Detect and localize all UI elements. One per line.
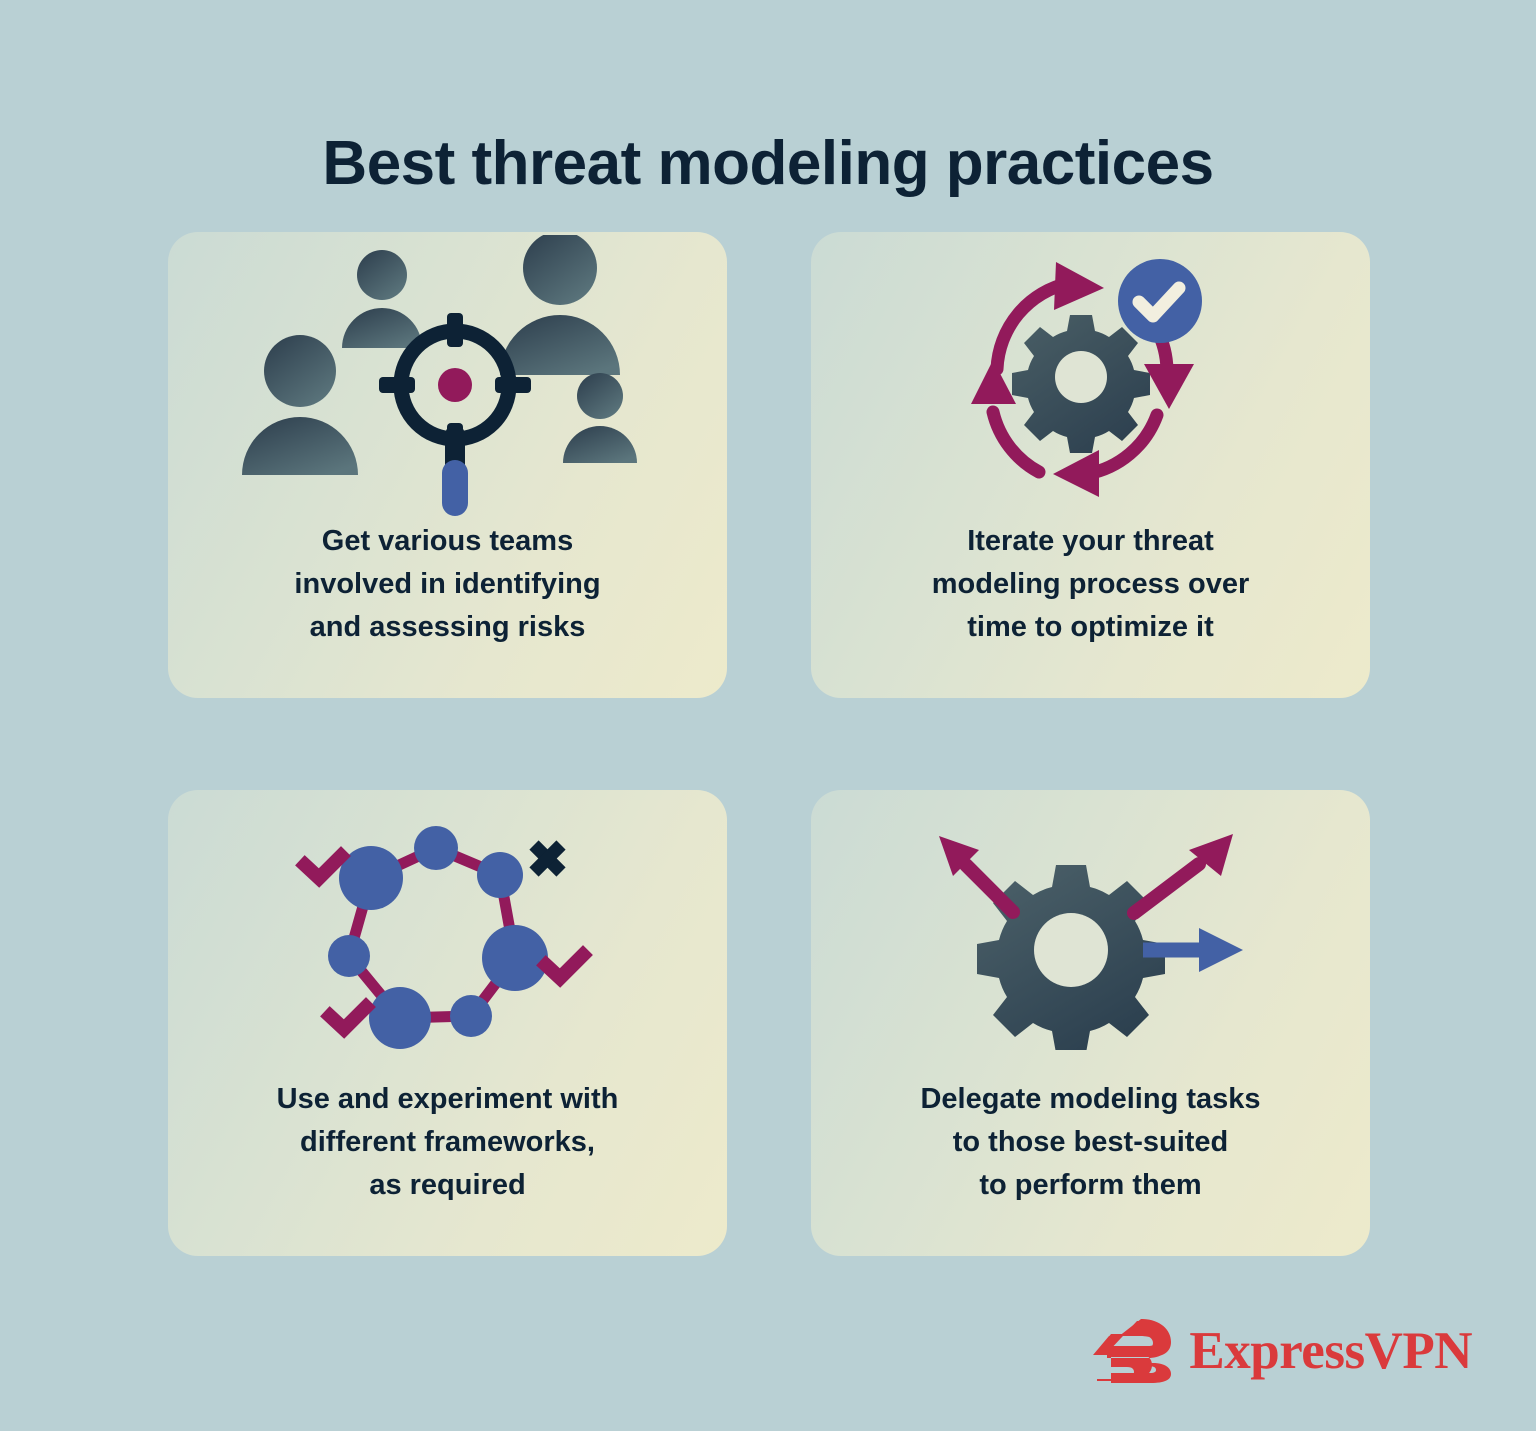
check-mark xyxy=(330,1007,366,1029)
node xyxy=(369,987,431,1049)
gear xyxy=(977,865,1165,1050)
node xyxy=(328,935,370,977)
card-icon-wrapper xyxy=(168,790,727,1080)
cyclic-arrows-gear-check-icon xyxy=(941,252,1241,502)
node xyxy=(482,925,548,991)
expressvpn-e-mark-icon xyxy=(1093,1319,1171,1383)
expressvpn-logo: ExpressVPN xyxy=(1093,1319,1472,1383)
page-title: Best threat modeling practices xyxy=(0,130,1536,198)
arrow-up-left xyxy=(939,836,1013,912)
card-icon-wrapper xyxy=(168,232,727,522)
practice-card-text: Use and experiment with different framew… xyxy=(196,1078,699,1208)
gear xyxy=(1012,315,1150,453)
check-mark xyxy=(305,856,341,878)
node xyxy=(414,826,458,870)
crosshair-target-with-people-icon xyxy=(238,235,658,520)
person-silhouette xyxy=(500,235,620,375)
node xyxy=(450,995,492,1037)
gear-with-diverging-arrows-icon xyxy=(921,820,1261,1050)
practice-card-delegate: Delegate modeling tasks to those best-su… xyxy=(811,790,1370,1256)
card-icon-wrapper xyxy=(811,232,1370,522)
practice-card-frameworks: Use and experiment with different framew… xyxy=(168,790,727,1256)
practice-card-text: Iterate your threat modeling process ove… xyxy=(839,520,1342,650)
cross-mark xyxy=(534,845,561,872)
network-nodes-check-cross-icon xyxy=(293,813,603,1058)
arrow-up-right xyxy=(1134,834,1233,913)
person-silhouette xyxy=(342,250,422,348)
card-icon-wrapper xyxy=(811,790,1370,1080)
crosshair-center-dot xyxy=(438,368,472,402)
expressvpn-wordmark: ExpressVPN xyxy=(1189,1325,1472,1378)
person-silhouette xyxy=(242,335,358,475)
person-silhouette xyxy=(563,373,637,463)
check-badge xyxy=(1118,259,1202,343)
check-mark xyxy=(546,955,583,978)
practice-card-text: Delegate modeling tasks to those best-su… xyxy=(839,1078,1342,1208)
magnifier-handle-grip xyxy=(442,460,468,516)
practice-card-teams: Get various teams involved in identifyin… xyxy=(168,232,727,698)
infographic-page: Best threat modeling practices xyxy=(0,0,1536,1431)
practice-card-grid: Get various teams involved in identifyin… xyxy=(168,232,1370,1256)
practice-card-iterate: Iterate your threat modeling process ove… xyxy=(811,232,1370,698)
node xyxy=(477,852,523,898)
practice-card-text: Get various teams involved in identifyin… xyxy=(196,520,699,650)
